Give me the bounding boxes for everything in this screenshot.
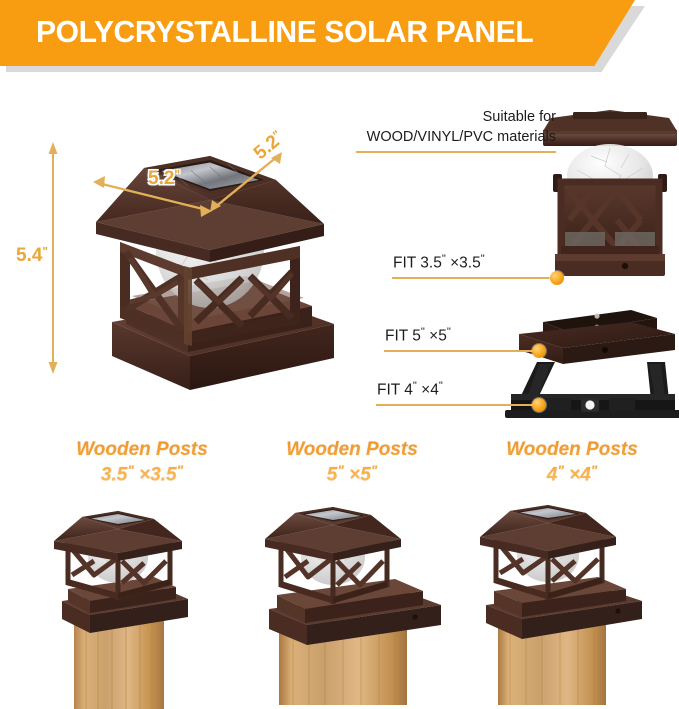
exploded-view-adapter-4x4	[497, 356, 679, 426]
lattice-frame	[553, 174, 667, 255]
post-caption-3-title: Wooden Posts	[492, 438, 652, 462]
post-caption-1-title: Wooden Posts	[52, 438, 232, 462]
post-caption-3: Wooden Posts 4" ×4"	[492, 438, 652, 488]
fit-label-3-5: FIT 3.5" ×3.5"	[393, 253, 485, 273]
width-side-arrow	[214, 156, 278, 208]
leader-line-4	[376, 404, 536, 406]
post-illustration-3	[468, 505, 679, 705]
page-title: POLYCRYSTALLINE SOLAR PANEL	[36, 14, 533, 50]
leader-dot-4	[532, 398, 546, 412]
leader-line-3-5	[392, 277, 554, 279]
suitable-for-callout: Suitable for WOOD/VINYL/PVC materials	[358, 108, 556, 147]
post-illustration-2	[255, 505, 485, 705]
leader-dot-5	[532, 344, 546, 358]
suitable-for-line2: WOOD/VINYL/PVC materials	[358, 128, 556, 148]
cap-roof	[265, 507, 401, 561]
suitable-for-line1: Suitable for	[358, 108, 556, 128]
post-caption-2-title: Wooden Posts	[272, 438, 432, 462]
product-infographic: POLYCRYSTALLINE SOLAR PANEL	[0, 0, 679, 709]
dimension-arrows	[0, 100, 360, 420]
width-front-dimension-label: 5.2"	[148, 168, 180, 190]
fit-label-5: FIT 5" ×5"	[385, 326, 451, 346]
leader-line-suitable	[356, 151, 556, 153]
fit-label-4: FIT 4" ×4"	[377, 380, 443, 400]
cap-roof	[480, 505, 616, 559]
leader-line-5	[384, 350, 536, 352]
post-caption-1-size: 3.5" ×3.5"	[52, 462, 232, 488]
header-banner: POLYCRYSTALLINE SOLAR PANEL	[0, 0, 679, 72]
adapter-hole	[602, 347, 608, 353]
base-plate	[555, 254, 665, 276]
post-caption-2-size: 5" ×5"	[272, 462, 432, 488]
cap-lid	[543, 110, 677, 146]
post-caption-2: Wooden Posts 5" ×5"	[272, 438, 432, 488]
leader-dot-3-5	[550, 271, 564, 285]
height-dimension-label: 5.4"	[16, 245, 48, 267]
post-caption-1: Wooden Posts 3.5" ×3.5"	[52, 438, 232, 488]
post-illustration-1	[42, 509, 252, 709]
post-caption-3-size: 4" ×4"	[492, 462, 652, 488]
